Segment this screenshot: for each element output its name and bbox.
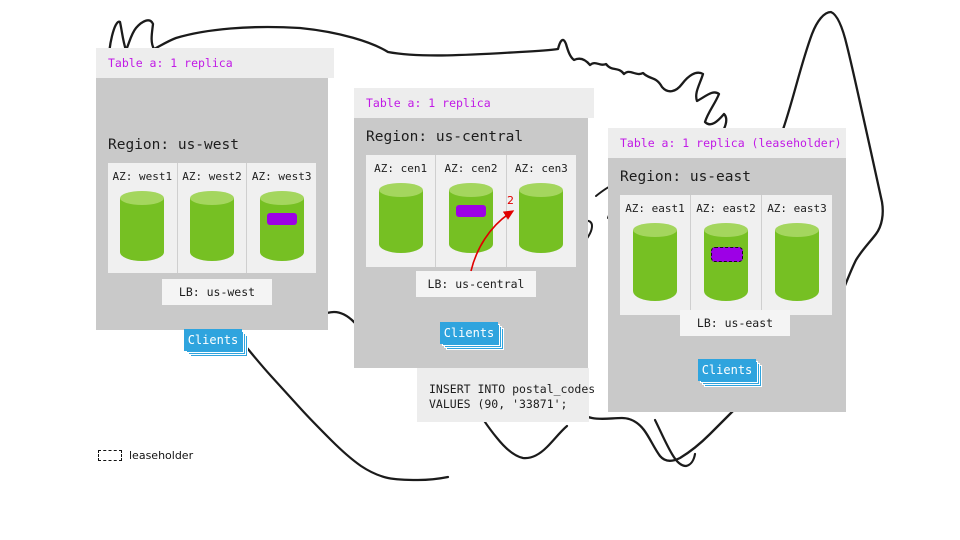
db-node-body-icon: [519, 190, 563, 253]
az-label-cen3: AZ: cen3: [515, 162, 568, 175]
db-node-cen2[interactable]: [449, 183, 493, 253]
az-cell-east1[interactable]: AZ: east1: [620, 195, 691, 315]
region-title-us-central: Region: us-central: [366, 129, 523, 145]
clients-button-us-east[interactable]: Clients: [698, 359, 768, 389]
az-cell-cen2[interactable]: AZ: cen2: [436, 155, 506, 267]
clients-button-face[interactable]: Clients: [440, 322, 498, 344]
db-node-east3[interactable]: [775, 223, 819, 301]
sql-line: INSERT INTO postal_codes: [429, 382, 589, 397]
region-panel-us-west: Table a: 1 replica Region: us-west AZ: w…: [96, 48, 334, 330]
region-panel-us-central: Table a: 1 replica Region: us-central AZ…: [354, 88, 594, 368]
db-node-body-icon: [120, 198, 164, 261]
load-balancer-us-central[interactable]: LB: us-central: [416, 271, 536, 297]
db-node-east2[interactable]: [704, 223, 748, 301]
db-node-body-icon: [190, 198, 234, 261]
az-cell-west1[interactable]: AZ: west1: [108, 163, 178, 273]
db-node-west1[interactable]: [120, 191, 164, 261]
panel-header-us-east: Table a: 1 replica (leaseholder): [608, 128, 846, 158]
dashed-rect-icon: [98, 450, 122, 461]
db-node-top-icon: [120, 191, 164, 205]
sql-callout-us-central: INSERT INTO postal_codes VALUES (90, '33…: [417, 368, 589, 422]
az-cell-east3[interactable]: AZ: east3: [762, 195, 832, 315]
db-node-top-icon: [190, 191, 234, 205]
az-strip-us-west: AZ: west1 AZ: west2 AZ: west3: [108, 163, 316, 273]
az-label-west1: AZ: west1: [113, 170, 173, 183]
db-node-top-icon: [379, 183, 423, 197]
panel-header-us-west: Table a: 1 replica: [96, 48, 334, 78]
az-strip-us-central: AZ: cen1 AZ: cen2 AZ: cen3: [366, 155, 576, 267]
az-label-east2: AZ: east2: [696, 202, 756, 215]
replica-block-east2-leaseholder[interactable]: [711, 247, 743, 262]
az-label-east3: AZ: east3: [767, 202, 827, 215]
db-node-cen1[interactable]: [379, 183, 423, 253]
az-cell-west3[interactable]: AZ: west3: [247, 163, 316, 273]
sql-line: VALUES (90, '33871';: [429, 397, 589, 412]
az-label-west2: AZ: west2: [182, 170, 242, 183]
region-panel-us-east: Table a: 1 replica (leaseholder) Region:…: [608, 128, 846, 412]
db-node-body-icon: [379, 190, 423, 253]
db-node-west2[interactable]: [190, 191, 234, 261]
az-label-cen1: AZ: cen1: [374, 162, 427, 175]
az-strip-us-east: AZ: east1 AZ: east2 AZ: east3: [620, 195, 832, 315]
db-node-west3[interactable]: [260, 191, 304, 261]
legend-leaseholder: leaseholder: [98, 449, 193, 462]
table-replica-label-us-east: Table a: 1 replica (leaseholder): [620, 136, 842, 150]
region-title-us-east: Region: us-east: [620, 169, 751, 185]
clients-button-us-central[interactable]: Clients: [440, 322, 510, 352]
az-label-cen2: AZ: cen2: [445, 162, 498, 175]
clients-button-face[interactable]: Clients: [698, 359, 756, 381]
db-node-body-icon: [704, 230, 748, 301]
clients-button-face[interactable]: Clients: [184, 329, 242, 351]
replica-block-west3[interactable]: [267, 213, 297, 225]
db-node-top-icon: [449, 183, 493, 197]
az-label-west3: AZ: west3: [252, 170, 312, 183]
db-node-body-icon: [633, 230, 677, 301]
db-node-top-icon: [633, 223, 677, 237]
az-cell-west2[interactable]: AZ: west2: [178, 163, 248, 273]
az-cell-cen3[interactable]: AZ: cen3: [507, 155, 576, 267]
region-title-us-west: Region: us-west: [108, 137, 239, 153]
db-node-east1[interactable]: [633, 223, 677, 301]
panel-header-us-central: Table a: 1 replica: [354, 88, 594, 118]
table-replica-label-us-central: Table a: 1 replica: [366, 96, 491, 110]
db-node-top-icon: [775, 223, 819, 237]
az-cell-cen1[interactable]: AZ: cen1: [366, 155, 436, 267]
db-node-top-icon: [704, 223, 748, 237]
load-balancer-us-east[interactable]: LB: us-east: [680, 310, 790, 336]
db-node-body-icon: [775, 230, 819, 301]
az-cell-east2[interactable]: AZ: east2: [691, 195, 762, 315]
db-node-top-icon: [519, 183, 563, 197]
table-replica-label-us-west: Table a: 1 replica: [108, 56, 233, 70]
db-node-body-icon: [260, 198, 304, 261]
load-balancer-us-west[interactable]: LB: us-west: [162, 279, 272, 305]
clients-button-us-west[interactable]: Clients: [184, 329, 254, 359]
replica-block-cen2[interactable]: [456, 205, 486, 217]
legend-label: leaseholder: [129, 449, 193, 462]
db-node-cen3[interactable]: [519, 183, 563, 253]
arrow-step-number-2: 2: [507, 194, 514, 207]
db-node-top-icon: [260, 191, 304, 205]
az-label-east1: AZ: east1: [625, 202, 685, 215]
diagram-canvas: Table a: 1 replica Region: us-west AZ: w…: [0, 0, 960, 540]
db-node-body-icon: [449, 190, 493, 253]
